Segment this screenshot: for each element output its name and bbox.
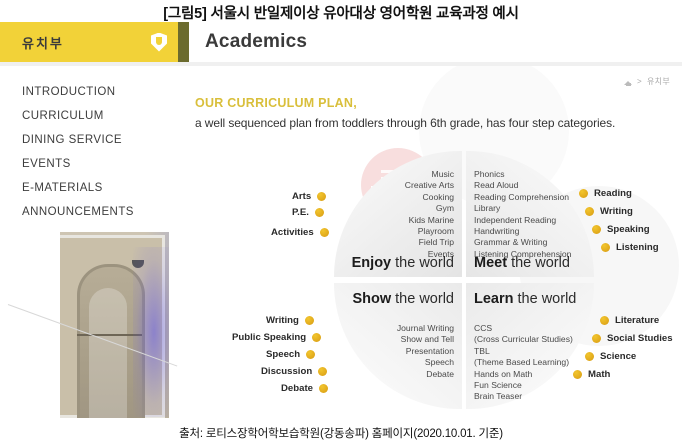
dot-label-discussion[interactable]: Discussion bbox=[261, 366, 327, 377]
dot-label-math[interactable]: Math bbox=[573, 369, 610, 380]
dot-label-text: Speech bbox=[266, 349, 300, 360]
curriculum-wheel: Music Creative Arts Cooking Gym Kids Mar… bbox=[334, 151, 594, 409]
photo-blue-glow bbox=[133, 247, 169, 417]
bullet-dot-icon bbox=[306, 350, 315, 359]
dot-label-text: Writing bbox=[600, 206, 633, 217]
photo-white-mask-left bbox=[0, 202, 60, 418]
bullet-dot-icon bbox=[305, 316, 314, 325]
bullet-dot-icon bbox=[319, 384, 328, 393]
breadcrumb-separator: > bbox=[637, 77, 642, 86]
section-label-text: 유치부 bbox=[22, 33, 64, 52]
shield-icon bbox=[151, 33, 167, 52]
bullet-dot-icon bbox=[579, 189, 588, 198]
bullet-dot-icon bbox=[592, 334, 601, 343]
figure-caption-title: [그림5] 서울시 반일제이상 유아대상 영어학원 교육과정 예시 bbox=[0, 0, 682, 24]
quadrant-show-title: Show the world bbox=[352, 291, 454, 307]
dot-label-text: Listening bbox=[616, 242, 659, 253]
header-accent-bar bbox=[178, 22, 189, 62]
dot-label-text: Math bbox=[588, 369, 610, 380]
sidebar-item-introduction[interactable]: INTRODUCTION bbox=[22, 80, 172, 104]
sidebar-item-e-materials[interactable]: E-MATERIALS bbox=[22, 176, 172, 200]
list-item: Phonics bbox=[474, 169, 571, 180]
list-item: Library bbox=[474, 203, 571, 214]
dot-label-text: Discussion bbox=[261, 366, 312, 377]
background-photo bbox=[44, 227, 169, 418]
bullet-dot-icon bbox=[312, 333, 321, 342]
dot-label-writing-show[interactable]: Writing bbox=[266, 315, 314, 326]
dot-label-reading[interactable]: Reading bbox=[579, 188, 632, 199]
dot-label-speech[interactable]: Speech bbox=[266, 349, 315, 360]
sidebar-item-dining-service[interactable]: DINING SERVICE bbox=[22, 128, 172, 152]
list-item: Journal Writing bbox=[397, 323, 454, 334]
list-item: Independent Reading bbox=[474, 215, 571, 226]
list-item: Creative Arts bbox=[405, 180, 454, 191]
quadrant-meet[interactable]: Phonics Read Aloud Reading Comprehension… bbox=[466, 151, 594, 277]
bullet-dot-icon bbox=[601, 243, 610, 252]
quadrant-show[interactable]: Show the world Journal Writing Show and … bbox=[334, 283, 462, 409]
list-item: Field Trip bbox=[405, 237, 454, 248]
quadrant-meet-title: Meet the world bbox=[474, 255, 570, 271]
quadrant-title-bold: Learn bbox=[474, 291, 514, 307]
page-title-container: Academics bbox=[189, 22, 682, 62]
list-item: (Theme Based Learning) bbox=[474, 357, 573, 368]
dot-label-arts[interactable]: Arts bbox=[292, 191, 326, 202]
quadrant-title-bold: Meet bbox=[474, 255, 507, 271]
list-item: Grammar & Writing bbox=[474, 237, 571, 248]
list-item: Cooking bbox=[405, 192, 454, 203]
list-item: Hands on Math bbox=[474, 369, 573, 380]
dot-label-activities[interactable]: Activities bbox=[271, 227, 329, 238]
quadrant-learn-items: CCS (Cross Curricular Studies) TBL (Them… bbox=[474, 323, 573, 403]
dot-label-text: Arts bbox=[292, 191, 311, 202]
dot-label-text: Science bbox=[600, 351, 636, 362]
quadrant-title-bold: Enjoy bbox=[352, 255, 391, 271]
list-item: TBL bbox=[474, 346, 573, 357]
figure-page: [그림5] 서울시 반일제이상 유아대상 영어학원 교육과정 예시 > 유치부 bbox=[0, 0, 682, 445]
dot-label-text: Public Speaking bbox=[232, 332, 306, 343]
list-item: Presentation bbox=[397, 346, 454, 357]
dot-label-debate[interactable]: Debate bbox=[281, 383, 328, 394]
list-item: Read Aloud bbox=[474, 180, 571, 191]
list-item: Music bbox=[405, 169, 454, 180]
dot-label-text: Literature bbox=[615, 315, 659, 326]
list-item: Gym bbox=[405, 203, 454, 214]
breadcrumb-current: 유치부 bbox=[647, 76, 670, 87]
dot-label-text: Speaking bbox=[607, 224, 650, 235]
quadrant-title-rest: the world bbox=[507, 255, 570, 271]
bullet-dot-icon bbox=[317, 192, 326, 201]
bullet-dot-icon bbox=[600, 316, 609, 325]
quadrant-enjoy-items: Music Creative Arts Cooking Gym Kids Mar… bbox=[405, 169, 454, 260]
logo-container[interactable] bbox=[140, 22, 178, 62]
dot-label-text: Writing bbox=[266, 315, 299, 326]
list-item: Debate bbox=[397, 369, 454, 380]
dot-label-text: Reading bbox=[594, 188, 632, 199]
page-title: Academics bbox=[205, 31, 307, 53]
dot-label-speaking[interactable]: Speaking bbox=[592, 224, 650, 235]
list-item: Show and Tell bbox=[397, 334, 454, 345]
dot-label-writing[interactable]: Writing bbox=[585, 206, 633, 217]
curriculum-subtitle: a well sequenced plan from toddlers thro… bbox=[195, 116, 615, 130]
breadcrumb: > 유치부 bbox=[624, 76, 670, 87]
quadrant-title-rest: the world bbox=[391, 291, 454, 307]
sidebar-item-announcements[interactable]: ANNOUNCEMENTS bbox=[22, 200, 172, 224]
bullet-dot-icon bbox=[573, 370, 582, 379]
dot-label-public-speaking[interactable]: Public Speaking bbox=[232, 332, 321, 343]
list-item: Brain Teaser bbox=[474, 391, 573, 402]
quadrant-learn-title: Learn the world bbox=[474, 291, 576, 307]
quadrant-title-bold: Show bbox=[352, 291, 391, 307]
quadrant-learn[interactable]: Learn the world CCS (Cross Curricular St… bbox=[466, 283, 594, 409]
quadrant-enjoy-title: Enjoy the world bbox=[352, 255, 454, 271]
dot-label-text: P.E. bbox=[292, 207, 309, 218]
curriculum-kicker: OUR CURRICULUM PLAN, bbox=[195, 96, 615, 110]
home-icon[interactable] bbox=[624, 78, 632, 86]
quadrant-enjoy[interactable]: Music Creative Arts Cooking Gym Kids Mar… bbox=[334, 151, 462, 277]
dot-label-listening[interactable]: Listening bbox=[601, 242, 659, 253]
site-header: 유치부 Academics bbox=[0, 22, 682, 62]
list-item: (Cross Curricular Studies) bbox=[474, 334, 573, 345]
dot-label-science[interactable]: Science bbox=[585, 351, 636, 362]
website-screenshot: > 유치부 OUR CURRICULUM PLAN, a well sequen… bbox=[0, 22, 682, 418]
main-content: > 유치부 OUR CURRICULUM PLAN, a well sequen… bbox=[189, 66, 682, 418]
header-underline bbox=[0, 62, 682, 66]
sidebar-nav: INTRODUCTION CURRICULUM DINING SERVICE E… bbox=[0, 66, 172, 208]
list-item: Kids Marine bbox=[405, 215, 454, 226]
list-item: Handwriting bbox=[474, 226, 571, 237]
list-item: Reading Comprehension bbox=[474, 192, 571, 203]
bullet-dot-icon bbox=[592, 225, 601, 234]
dot-label-text: Debate bbox=[281, 383, 313, 394]
dot-label-social-studies[interactable]: Social Studies bbox=[592, 333, 673, 344]
dot-label-pe[interactable]: P.E. bbox=[292, 207, 324, 218]
quadrant-show-items: Journal Writing Show and Tell Presentati… bbox=[397, 323, 454, 380]
list-item: Fun Science bbox=[474, 380, 573, 391]
figure-source-caption: 출처: 로티스장학어학보습학원(강동송파) 홈페이지(2020.10.01. 기… bbox=[0, 420, 682, 445]
quadrant-title-rest: the world bbox=[514, 291, 577, 307]
bullet-dot-icon bbox=[318, 367, 327, 376]
bullet-dot-icon bbox=[315, 208, 324, 217]
list-item: CCS bbox=[474, 323, 573, 334]
dot-label-text: Activities bbox=[271, 227, 314, 238]
bullet-dot-icon bbox=[585, 207, 594, 216]
list-item: Speech bbox=[397, 357, 454, 368]
photo-arch-inner bbox=[89, 288, 127, 418]
bullet-dot-icon bbox=[320, 228, 329, 237]
sidebar-item-events[interactable]: EVENTS bbox=[22, 152, 172, 176]
quadrant-title-rest: the world bbox=[391, 255, 454, 271]
list-item: Playroom bbox=[405, 226, 454, 237]
dot-label-text: Social Studies bbox=[607, 333, 673, 344]
curriculum-intro: OUR CURRICULUM PLAN, a well sequenced pl… bbox=[195, 96, 615, 130]
dot-label-literature[interactable]: Literature bbox=[600, 315, 659, 326]
quadrant-meet-items: Phonics Read Aloud Reading Comprehension… bbox=[474, 169, 571, 260]
bullet-dot-icon bbox=[585, 352, 594, 361]
section-label-badge[interactable]: 유치부 bbox=[0, 22, 140, 62]
sidebar-item-curriculum[interactable]: CURRICULUM bbox=[22, 104, 172, 128]
